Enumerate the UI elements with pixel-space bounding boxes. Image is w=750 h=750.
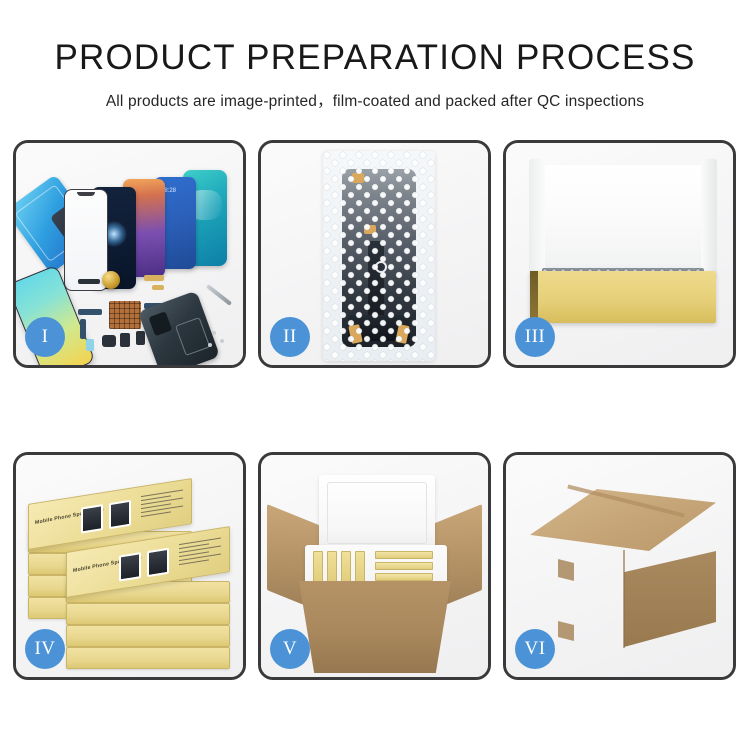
step-badge-6: VI — [515, 629, 555, 669]
battery-connector-icon — [120, 333, 130, 347]
carton-face-right-icon — [624, 551, 716, 647]
sim-tray-icon — [136, 331, 145, 345]
gold-connector-icon — [144, 275, 164, 281]
sensor-icon — [86, 339, 94, 351]
box-text-lines — [141, 489, 183, 524]
step-panel-3: III — [503, 140, 736, 368]
ic-chip-icon — [109, 301, 141, 329]
stacked-box — [66, 647, 230, 669]
yellow-box-flat — [375, 551, 433, 559]
yellow-inner-box-icon — [530, 271, 716, 323]
carton-tape-icon — [558, 621, 574, 641]
phone-print-icon — [119, 552, 141, 581]
step-panel-2: II — [258, 140, 491, 368]
gold-tape-icon — [352, 173, 364, 183]
speaker-module-icon — [102, 271, 120, 289]
yellow-box-flat — [375, 573, 433, 581]
page-title: PRODUCT PREPARATION PROCESS — [0, 38, 750, 78]
step-panel-4: Mobile Phone Spare Parts Mobile Phone Sp… — [13, 452, 246, 680]
lcd-flex-strip-icon — [368, 241, 384, 337]
gold-tape-icon — [395, 324, 410, 344]
tweezers-icon — [206, 284, 232, 306]
gold-tape-icon — [348, 324, 363, 344]
step-badge-5: V — [270, 629, 310, 669]
foam-lid-icon — [538, 165, 708, 277]
carton-body-icon — [299, 581, 451, 673]
box-text-lines — [179, 537, 221, 572]
lcd-connector-base-icon — [348, 315, 410, 341]
flex-cable-vertical-icon — [80, 319, 86, 339]
gold-contact-icon — [152, 285, 164, 290]
yellow-box-flat — [375, 562, 433, 570]
phone-print-icon — [81, 504, 103, 533]
carton-tape-icon — [558, 559, 574, 581]
screw-icon — [208, 343, 212, 347]
step-badge-2: II — [270, 317, 310, 357]
step-badge-4: IV — [25, 629, 65, 669]
front-glass-icon — [64, 189, 108, 291]
phone-print-icon — [147, 548, 169, 577]
carton-face-left-icon — [530, 540, 625, 644]
stacked-box — [66, 625, 230, 647]
step-badge-1: I — [25, 317, 65, 357]
camera-module-icon — [102, 335, 116, 347]
step-panel-5: V — [258, 452, 491, 680]
front-camera-icon — [375, 261, 387, 273]
phone-print-icon — [109, 500, 131, 529]
page-subtitle: All products are image-printed，film-coat… — [0, 89, 750, 111]
step-badge-3: III — [515, 317, 555, 357]
header: PRODUCT PREPARATION PROCESS All products… — [0, 0, 750, 111]
gold-tape-icon — [364, 225, 376, 234]
step-panel-1: 08:28 — [13, 140, 246, 368]
bubble-wrap-bag-icon — [323, 151, 435, 361]
product-preparation-infographic: PRODUCT PREPARATION PROCESS All products… — [0, 0, 750, 750]
component-bar-icon — [78, 279, 100, 284]
carton-edge-icon — [623, 550, 625, 648]
flex-cable-icon — [78, 309, 102, 315]
lcd-assembly-icon — [342, 169, 416, 347]
screw-icon — [220, 339, 224, 343]
process-steps-grid: 08:28 — [13, 140, 737, 680]
screw-icon — [212, 331, 216, 335]
foam-lid-open-icon — [319, 475, 435, 553]
stacked-box — [66, 603, 230, 625]
step-panel-6: VI — [503, 452, 736, 680]
